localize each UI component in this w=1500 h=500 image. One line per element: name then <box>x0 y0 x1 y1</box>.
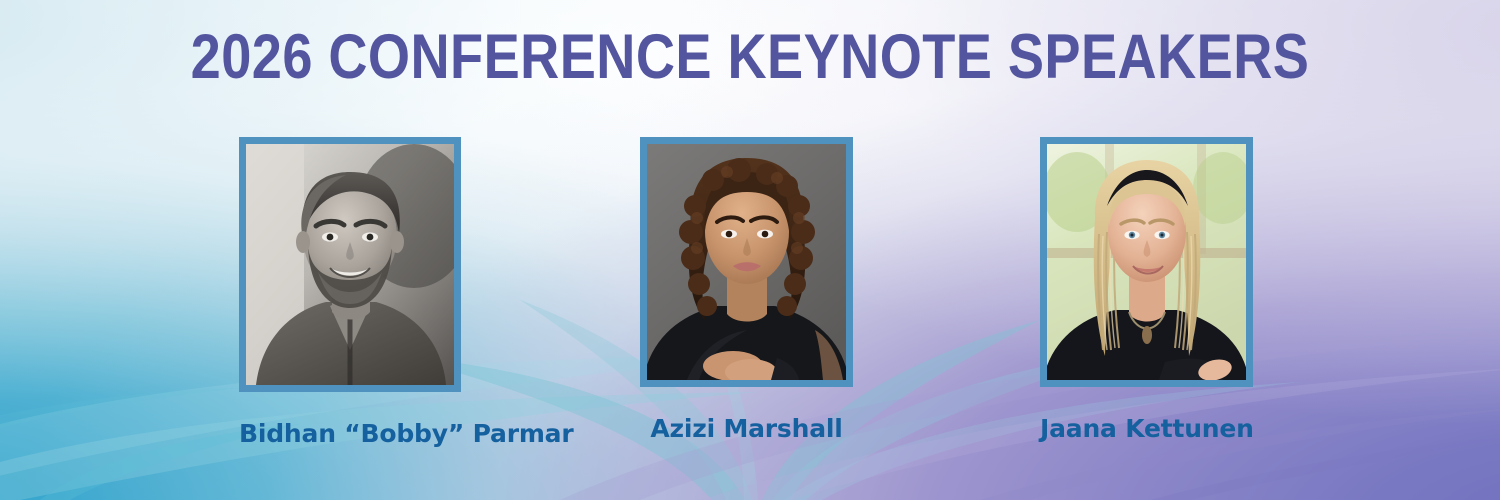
speaker-card[interactable]: Jaana Kettunen <box>1040 137 1253 443</box>
page-title: 2026 CONFERENCE KEYNOTE SPEAKERS <box>105 26 1395 89</box>
photo-frame <box>1040 137 1253 387</box>
avatar <box>246 144 454 385</box>
speaker-name: Jaana Kettunen <box>1040 414 1253 443</box>
avatar <box>647 144 846 380</box>
speaker-list: Bidhan “Bobby” Parmar <box>0 137 1500 477</box>
speaker-card[interactable]: Bidhan “Bobby” Parmar <box>239 137 461 448</box>
photo-frame <box>640 137 853 387</box>
avatar <box>1047 144 1246 380</box>
keynote-speakers-banner: 2026 CONFERENCE KEYNOTE SPEAKERS <box>0 0 1500 500</box>
photo-frame <box>239 137 461 392</box>
speaker-name: Bidhan “Bobby” Parmar <box>239 419 461 448</box>
speaker-name: Azizi Marshall <box>640 414 853 443</box>
speaker-card[interactable]: Azizi Marshall <box>640 137 853 443</box>
